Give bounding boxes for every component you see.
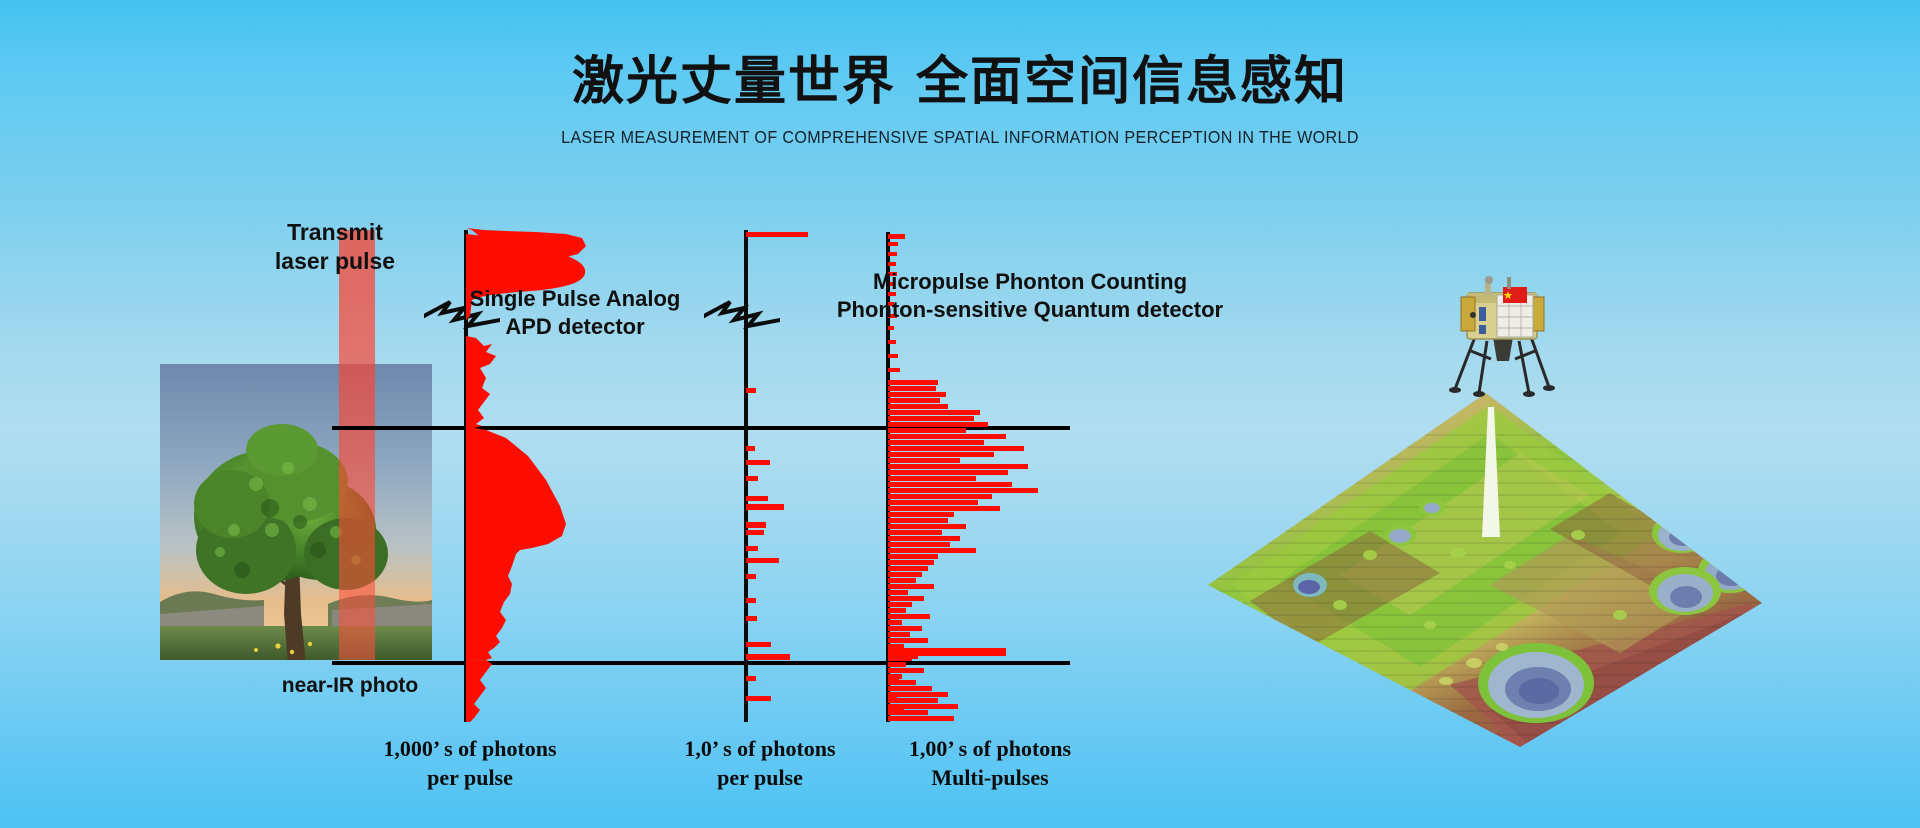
label-transmit-laser-pulse: Transmit laser pulse bbox=[240, 218, 430, 276]
terrain-visualization bbox=[1190, 285, 1780, 755]
label-near-ir-photo: near-IR photo bbox=[240, 673, 460, 699]
crater bbox=[1293, 573, 1327, 597]
lunar-lander bbox=[1445, 275, 1560, 405]
tree-photo-image bbox=[160, 364, 432, 660]
crater bbox=[1652, 513, 1712, 553]
label-apd-detector: Single Pulse Analog APD detector bbox=[430, 285, 720, 340]
diagram-stage: Transmit laser pulse Single Pulse Analog… bbox=[0, 0, 1920, 828]
laser-beam-overlay bbox=[339, 230, 375, 660]
crater bbox=[1478, 643, 1594, 723]
label-micropulse-detector: Micropulse Phonton Counting Phonton-sens… bbox=[810, 268, 1250, 323]
caption-photons-left: 1,000’ s of photons per pulse bbox=[330, 735, 610, 792]
crater bbox=[1649, 567, 1721, 615]
crater bbox=[1419, 498, 1445, 516]
caption-photons-middle: 1,0’ s of photons per pulse bbox=[630, 735, 890, 792]
below-ground-spikes bbox=[888, 666, 948, 726]
caption-photons-right: 1,00’ s of photons Multi-pulses bbox=[860, 735, 1120, 792]
near-ir-photo bbox=[160, 364, 432, 660]
ground-return-spike bbox=[888, 648, 1088, 664]
crater bbox=[1384, 524, 1416, 546]
